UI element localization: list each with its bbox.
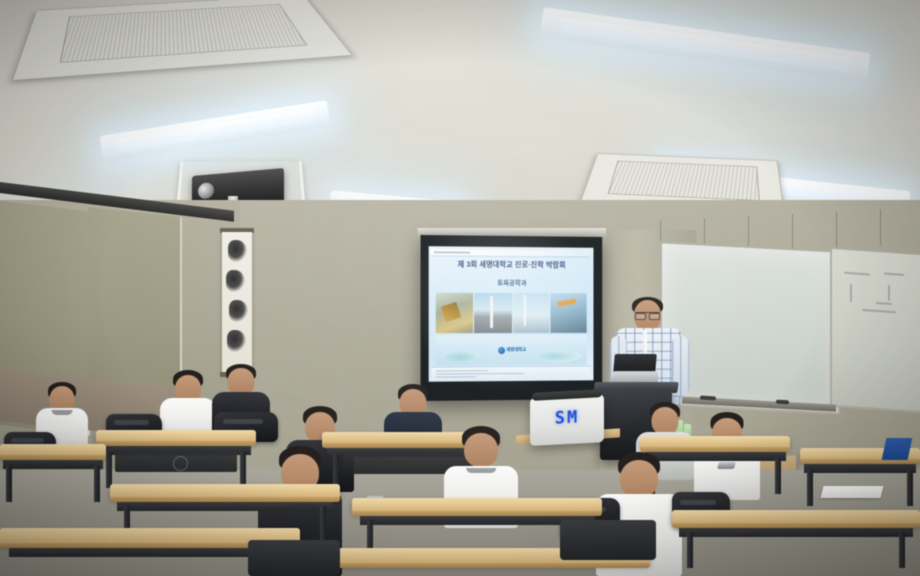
papers[interactable] bbox=[821, 486, 884, 498]
university-logo-icon bbox=[498, 347, 505, 354]
sm-display-device[interactable]: SM bbox=[530, 394, 604, 446]
slide-photo-port-crane bbox=[550, 293, 586, 333]
sm-display-readout: SM bbox=[530, 406, 604, 430]
slide-photo-excavator bbox=[436, 293, 474, 333]
slide-header-bar bbox=[431, 249, 590, 257]
ac-grille bbox=[607, 161, 760, 201]
smartphone[interactable] bbox=[717, 462, 736, 469]
whiteboard-right-panel bbox=[830, 247, 920, 414]
slide-photo-bridge-roadway bbox=[474, 293, 511, 333]
slide-subtitle: 토목공학과 bbox=[429, 278, 594, 288]
slide-logo: 세명대학교 bbox=[498, 346, 526, 353]
chair-back bbox=[560, 520, 656, 560]
slide-logo-text: 세명대학교 bbox=[506, 347, 526, 353]
chair-back bbox=[248, 540, 340, 576]
glasses-icon bbox=[635, 312, 660, 319]
calligraphy-scroll bbox=[222, 232, 252, 374]
presentation-slide: 제 3회 세명대학교 진로·진학 박람회 토목공학과 세명대학교 bbox=[429, 246, 594, 382]
student-head bbox=[620, 460, 658, 498]
whiteboard-marker[interactable] bbox=[700, 396, 716, 401]
slide-photo-row bbox=[436, 293, 587, 333]
student-head bbox=[652, 407, 679, 435]
whiteboard-marker[interactable] bbox=[776, 400, 789, 405]
student-collar bbox=[52, 410, 73, 415]
slide-footer bbox=[432, 365, 591, 379]
blue-folder[interactable] bbox=[882, 438, 913, 460]
projector-lens bbox=[198, 182, 214, 199]
classroom-photo: 제 3회 세명대학교 진로·진학 박람회 토목공학과 세명대학교 bbox=[0, 0, 920, 576]
student-collar bbox=[466, 468, 496, 473]
student-head bbox=[464, 433, 498, 467]
slide-logo-band: 세명대학교 bbox=[436, 335, 587, 366]
ac-grille bbox=[60, 4, 308, 63]
desk-emblem bbox=[173, 456, 188, 471]
projection-screen: 제 3회 세명대학교 진로·진학 박람회 토목공학과 세명대학교 bbox=[421, 235, 603, 401]
slide-photo-cable-bridge bbox=[513, 293, 550, 333]
slide-title: 제 3회 세명대학교 진로·진학 박람회 bbox=[429, 259, 594, 270]
